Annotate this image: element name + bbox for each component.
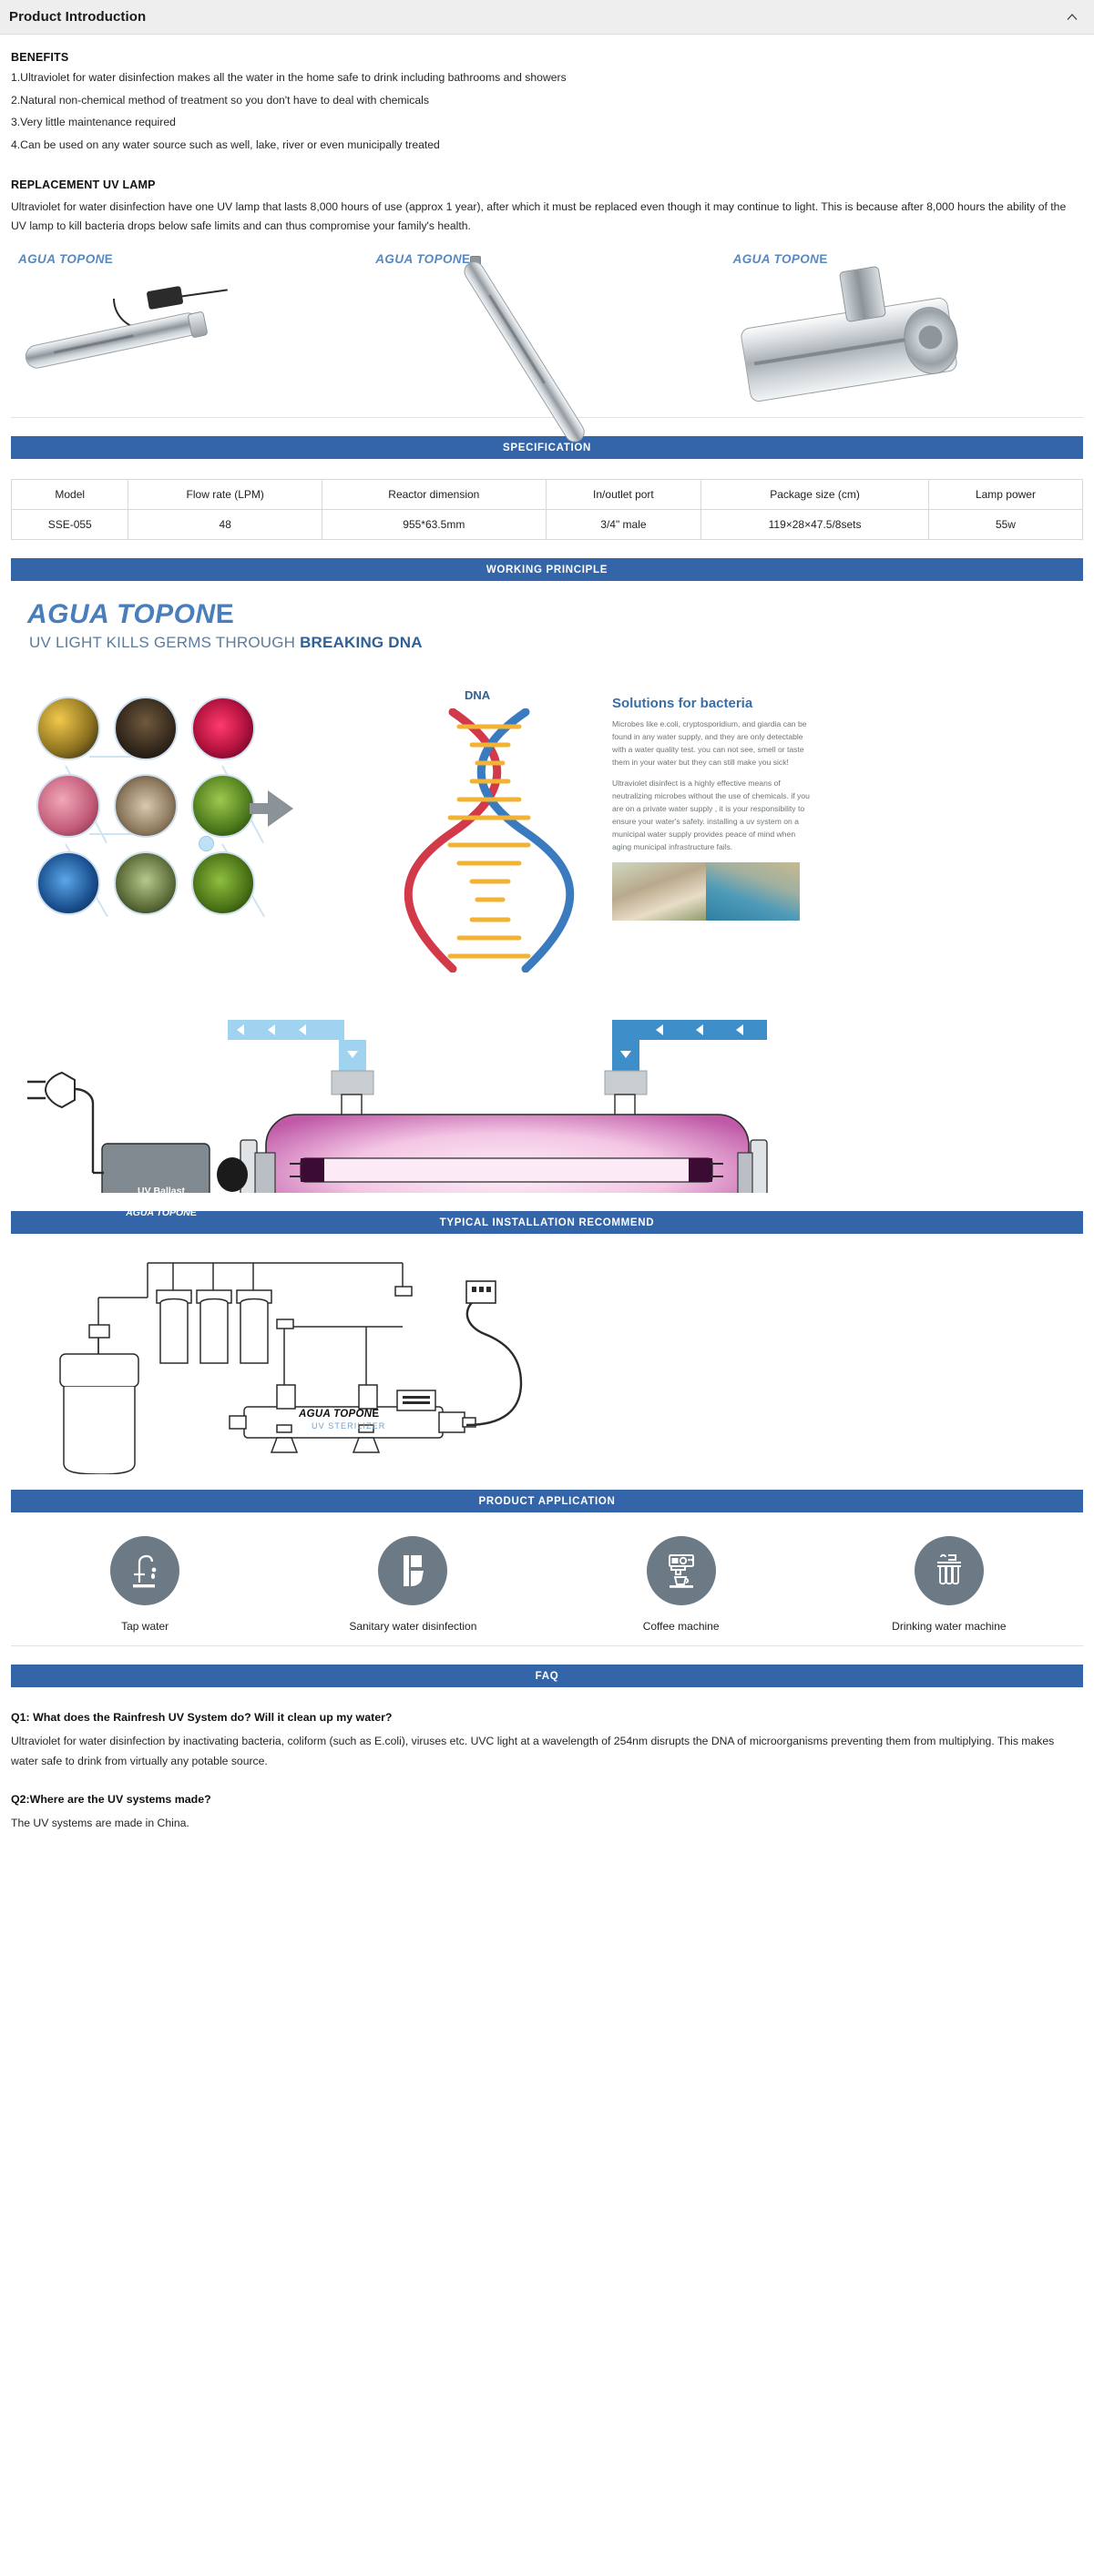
brand-watermark: AGUA TOPONE [18, 252, 113, 266]
faq-section: Q1: What does the Rainfresh UV System do… [11, 1687, 1083, 1833]
dna-label: DNA [465, 688, 490, 702]
benefits-heading: BENEFITS [11, 51, 1083, 64]
brand-watermark: AGUA TOPONE [375, 252, 470, 266]
faucet-icon [110, 1536, 179, 1605]
column-header-lamp-power: Lamp power [928, 480, 1082, 510]
column-header-reactor-dimension: Reactor dimension [322, 480, 546, 510]
microbe-circle [191, 697, 255, 760]
application-list: Tap water Sanitary water disinfection [11, 1536, 1083, 1646]
column-header-package-size: Package size (cm) [701, 480, 929, 510]
toilet-icon [378, 1536, 447, 1605]
microbe-circle [36, 774, 100, 838]
brand-watermark: AGUA TOPONE [733, 252, 828, 266]
microbe-circle-grid [36, 697, 255, 915]
banner-specification: SPECIFICATION [11, 436, 1083, 459]
dna-helix-illustration [403, 708, 576, 972]
solutions-text-column: Solutions for bacteria Microbes like e.c… [612, 696, 813, 920]
microbe-circle [114, 697, 178, 760]
installation-unit-subtitle: UV STERILIZER [312, 1421, 385, 1431]
application-item-tap-water: Tap water [11, 1536, 279, 1633]
faq-question: Q2:Where are the UV systems made? [11, 1793, 1083, 1806]
product-photo-port-closeup: AGUA TOPONE [726, 249, 1083, 408]
working-principle-infographic: AGUA TOPONE UV LIGHT KILLS GERMS THROUGH… [11, 601, 1083, 993]
threaded-port-shape [838, 266, 885, 322]
microbe-circle [191, 851, 255, 915]
column-header-flow-rate: Flow rate (LPM) [128, 480, 322, 510]
infographic-tagline: UV LIGHT KILLS GERMS THROUGH BREAKING DN… [29, 634, 1083, 652]
benefit-item: 2.Natural non-chemical method of treatme… [11, 93, 1083, 109]
application-label: Coffee machine [547, 1620, 815, 1633]
replacement-lamp-heading: REPLACEMENT UV LAMP [11, 178, 1083, 191]
banner-working-principle: WORKING PRINCIPLE [11, 558, 1083, 581]
banner-product-application: PRODUCT APPLICATION [11, 1490, 1083, 1512]
product-photo-diagonal-unit: AGUA TOPONE [368, 249, 725, 408]
replacement-lamp-text: Ultraviolet for water disinfection have … [11, 198, 1083, 237]
benefit-item: 1.Ultraviolet for water disinfection mak… [11, 70, 1083, 87]
product-photo-row: AGUA TOPONE AGUA TOPONE AGUA TOPONE [11, 249, 1083, 418]
coffee-machine-icon [647, 1536, 716, 1605]
uv-reactor-schematic: UV Ballast AGUA TOPONE [11, 1020, 1083, 1193]
power-cord-lead-shape [180, 290, 228, 298]
microbe-circle [114, 851, 178, 915]
uv-ballast-label: UV Ballast [113, 1186, 210, 1196]
faq-question: Q1: What does the Rainfresh UV System do… [11, 1711, 1083, 1724]
uv-ballast-brand: AGUA TOPONE [113, 1207, 210, 1218]
benefits-section: BENEFITS 1.Ultraviolet for water disinfe… [11, 51, 1083, 154]
installation-unit-brand: AGUA TOPONE [299, 1409, 379, 1420]
specification-table: Model Flow rate (LPM) Reactor dimension … [11, 479, 1083, 540]
microbe-circle [36, 697, 100, 760]
microbe-circle [114, 774, 178, 838]
banner-faq: FAQ [11, 1665, 1083, 1687]
microbe-circle [36, 851, 100, 915]
lifestyle-photo [612, 862, 800, 921]
application-label: Drinking water machine [815, 1620, 1083, 1633]
benefit-item: 3.Very little maintenance required [11, 115, 1083, 131]
solutions-paragraph-1: Microbes like e.coli, cryptosporidium, a… [612, 718, 813, 769]
uv-reactor-tube-shape [23, 311, 201, 371]
table-header-row: Model Flow rate (LPM) Reactor dimension … [12, 480, 1083, 510]
installation-diagram: AGUA TOPONE UV STERILIZER [11, 1247, 1083, 1479]
application-label: Sanitary water disinfection [279, 1620, 547, 1633]
product-introduction-content: BENEFITS 1.Ultraviolet for water disinfe… [0, 35, 1094, 1833]
table-row: SSE-055 48 955*63.5mm 3/4" male 119×28×4… [12, 510, 1083, 540]
solutions-title: Solutions for bacteria [612, 696, 813, 711]
product-introduction-accordion-header[interactable]: Product Introduction [0, 0, 1094, 35]
cell-inoutlet-port: 3/4" male [546, 510, 701, 540]
replacement-lamp-section: REPLACEMENT UV LAMP Ultraviolet for wate… [11, 178, 1083, 237]
column-header-inoutlet-port: In/outlet port [546, 480, 701, 510]
application-item-sanitary: Sanitary water disinfection [279, 1536, 547, 1633]
benefit-item: 4.Can be used on any water source such a… [11, 137, 1083, 154]
cell-model: SSE-055 [12, 510, 128, 540]
application-item-coffee: Coffee machine [547, 1536, 815, 1633]
process-arrow-icon [268, 790, 293, 827]
page-title: Product Introduction [9, 9, 146, 25]
cell-flow-rate: 48 [128, 510, 322, 540]
application-label: Tap water [11, 1620, 279, 1633]
infographic-brand-logo: AGUA TOPONE [27, 601, 1083, 628]
cell-lamp-power: 55w [928, 510, 1082, 540]
cell-reactor-dimension: 955*63.5mm [322, 510, 546, 540]
column-header-model: Model [12, 480, 128, 510]
chevron-up-icon[interactable] [1065, 10, 1079, 25]
application-item-drinking-machine: Drinking water machine [815, 1536, 1083, 1633]
faq-answer: The UV systems are made in China. [11, 1814, 1083, 1833]
product-photo-full-unit: AGUA TOPONE [11, 249, 368, 408]
water-filter-icon [915, 1536, 984, 1605]
faq-answer: Ultraviolet for water disinfection by in… [11, 1732, 1083, 1771]
microbe-circle [191, 774, 255, 838]
solutions-paragraph-2: Ultraviolet disinfect is a highly effect… [612, 778, 813, 854]
cell-package-size: 119×28×47.5/8sets [701, 510, 929, 540]
